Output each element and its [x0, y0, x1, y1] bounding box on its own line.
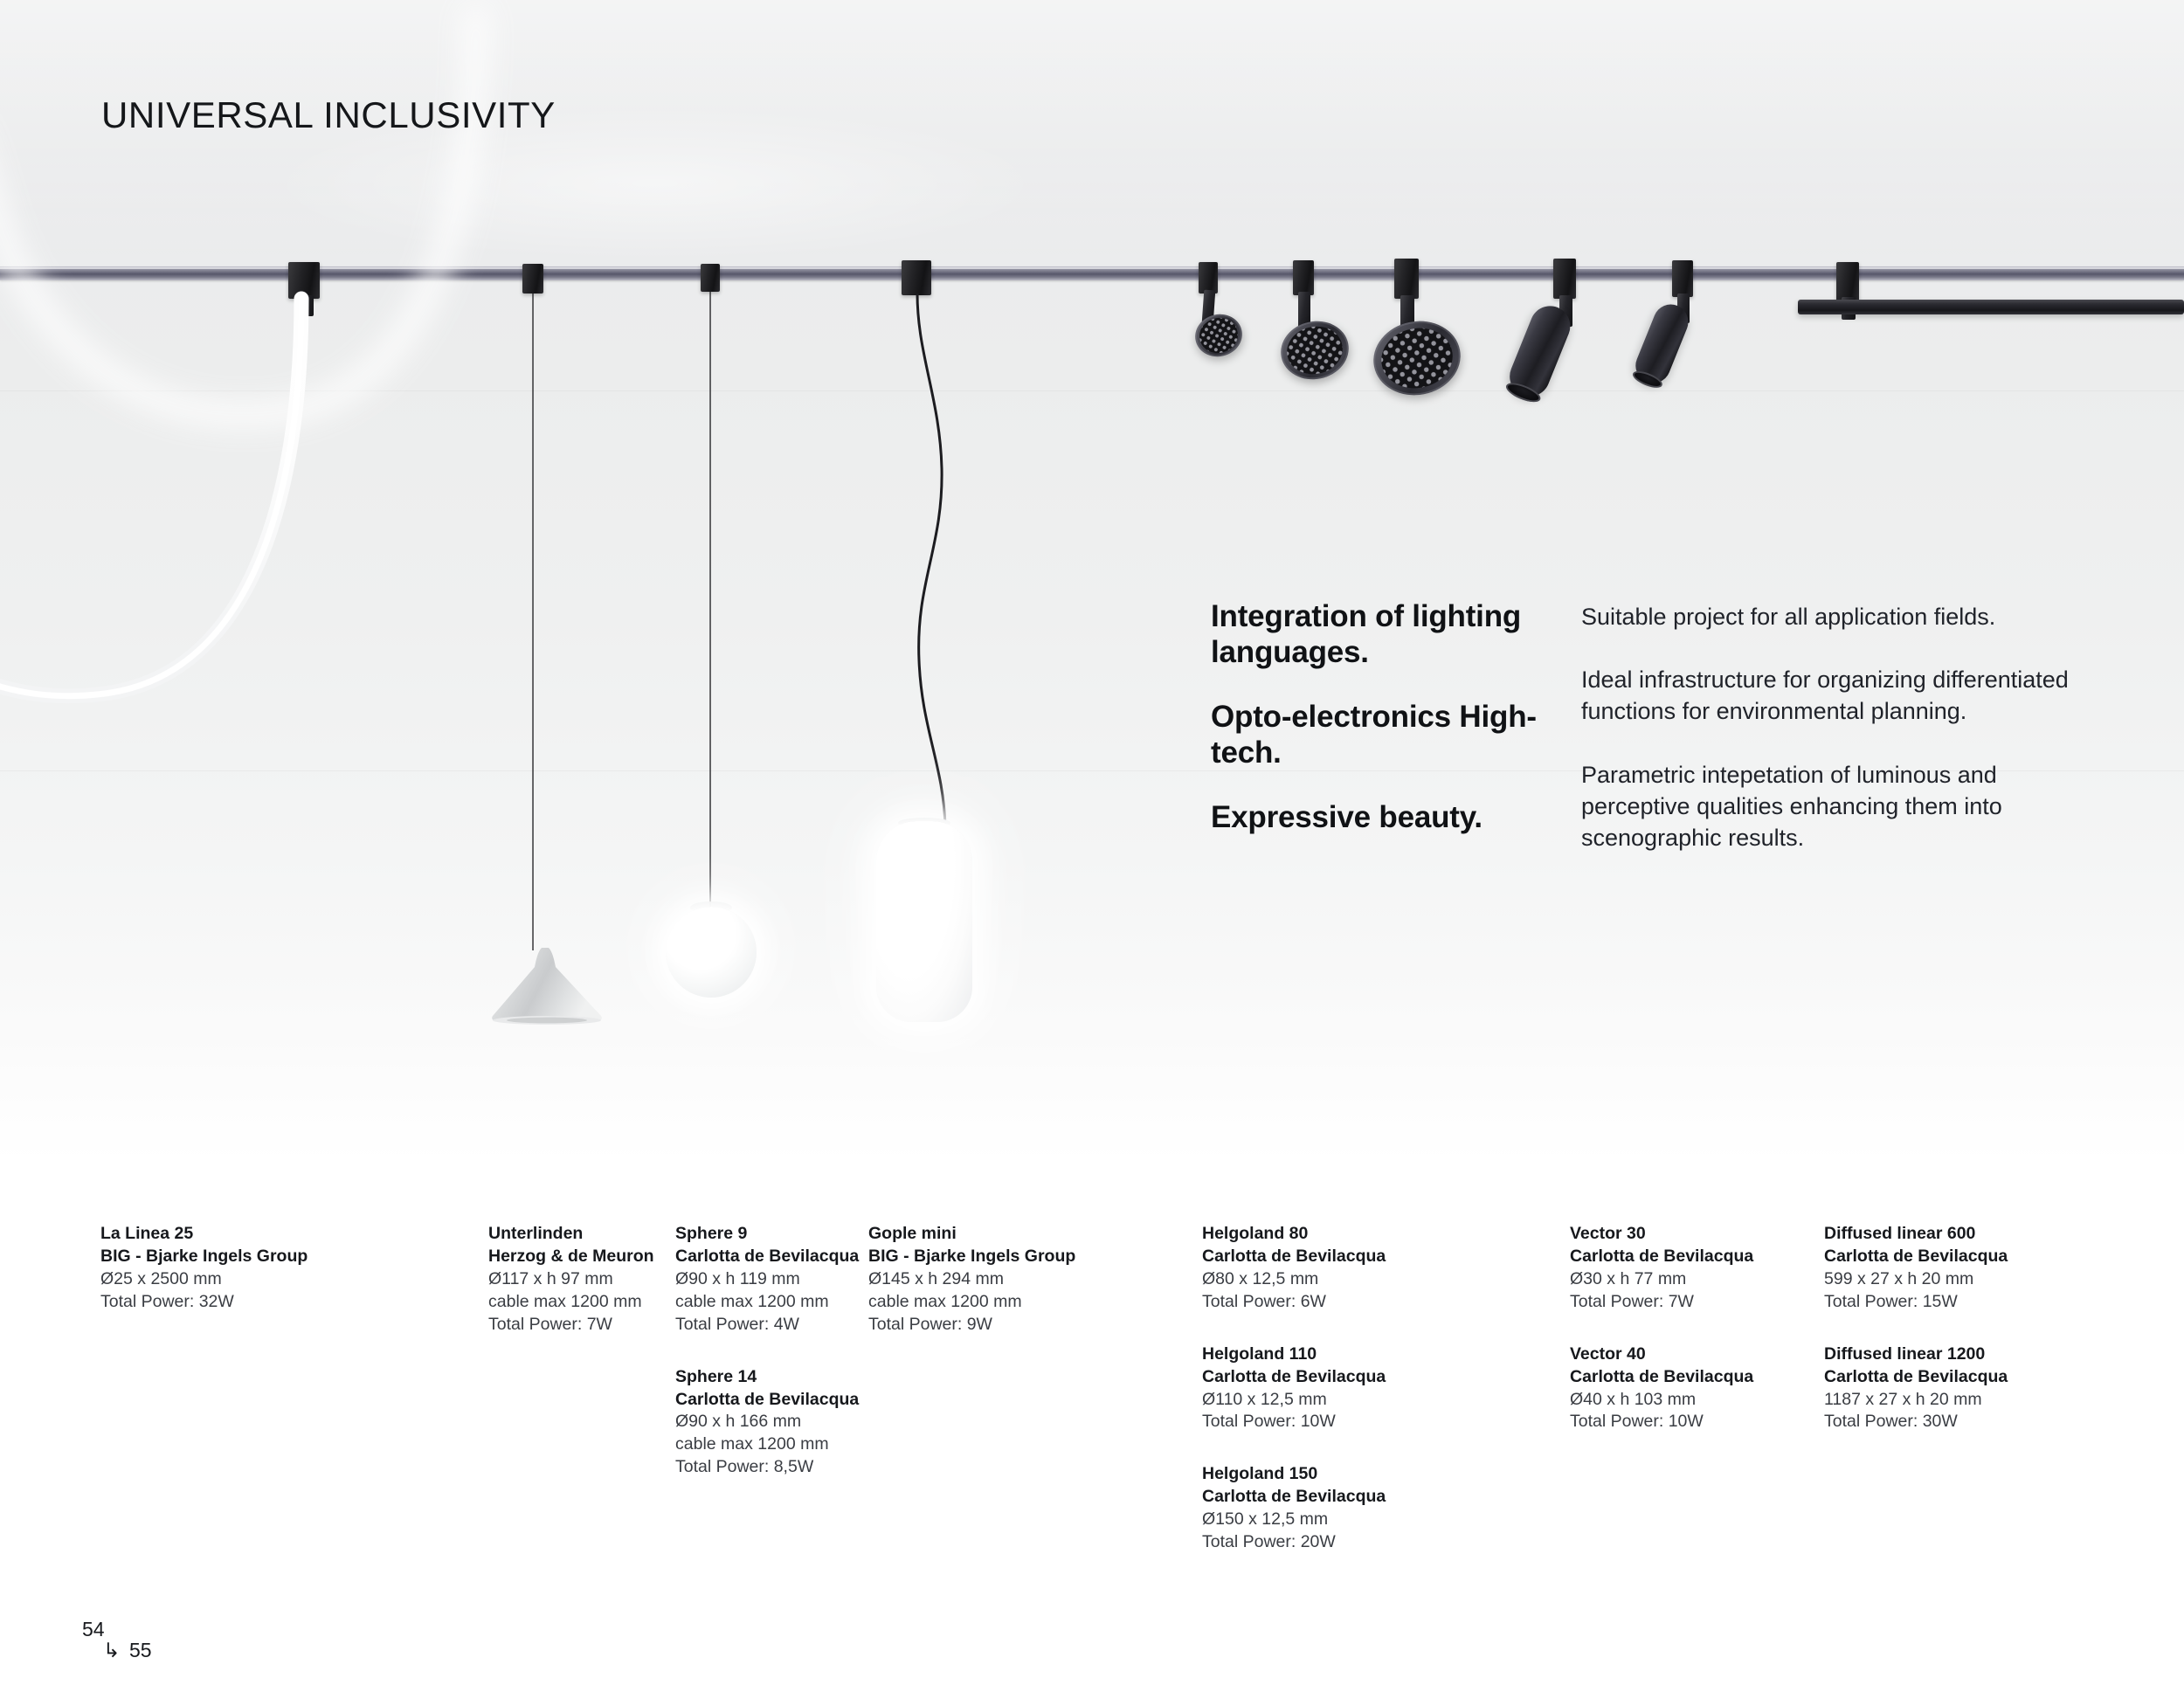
- helgoland-150-head: [1367, 314, 1467, 403]
- col-vector: Vector 30Carlotta de BevilacquaØ30 x h 7…: [1570, 1223, 1753, 1433]
- product-spec: Ø90 x h 119 mm: [675, 1268, 859, 1291]
- col-helgoland: Helgoland 80Carlotta de BevilacquaØ80 x …: [1202, 1223, 1386, 1554]
- pendant-cord-unterlinden: [532, 294, 534, 950]
- product-spec: Total Power: 32W: [100, 1291, 308, 1314]
- product-spec: cable max 1200 mm: [488, 1291, 654, 1314]
- product-caption: Helgoland 150Carlotta de BevilacquaØ150 …: [1202, 1463, 1386, 1554]
- product-name: Diffused linear 600: [1824, 1223, 2008, 1246]
- product-designer: Carlotta de Bevilacqua: [1202, 1246, 1386, 1268]
- product-designer: Carlotta de Bevilacqua: [1824, 1366, 2008, 1389]
- col-unterlinden: UnterlindenHerzog & de MeuronØ117 x h 97…: [488, 1223, 654, 1336]
- product-caption: Vector 40Carlotta de BevilacquaØ40 x h 1…: [1570, 1343, 1753, 1434]
- folio-arrow-icon: ↳: [103, 1639, 120, 1662]
- product-name: Diffused linear 1200: [1824, 1343, 2008, 1366]
- product-spec: Total Power: 15W: [1824, 1291, 2008, 1314]
- helgoland-80-head: [1191, 309, 1247, 362]
- helgoland-80-disc: [1191, 309, 1247, 362]
- product-spec: cable max 1200 mm: [675, 1291, 859, 1314]
- product-spec: Total Power: 4W: [675, 1314, 859, 1336]
- headline-line-1: Integration of lighting languages.: [1211, 599, 1560, 670]
- product-designer: BIG - Bjarke Ingels Group: [100, 1246, 308, 1268]
- product-spec: Ø25 x 2500 mm: [100, 1268, 308, 1291]
- track-adapter-helgoland-80: [1199, 262, 1218, 294]
- product-spec: Total Power: 7W: [1570, 1291, 1753, 1314]
- product-spec: cable max 1200 mm: [675, 1433, 859, 1456]
- body-text-column: Suitable project for all application fie…: [1581, 601, 2097, 853]
- product-designer: Carlotta de Bevilacqua: [675, 1246, 859, 1268]
- product-spec: Ø145 x h 294 mm: [868, 1268, 1075, 1291]
- track-adapter-sphere: [701, 264, 720, 292]
- product-name: Unterlinden: [488, 1223, 654, 1246]
- product-caption: Diffused linear 1200Carlotta de Bevilacq…: [1824, 1343, 2008, 1434]
- product-spec: Total Power: 8,5W: [675, 1456, 859, 1479]
- product-designer: BIG - Bjarke Ingels Group: [868, 1246, 1075, 1268]
- folio-page-left: 54: [82, 1618, 105, 1641]
- col-sphere: Sphere 9Carlotta de BevilacquaØ90 x h 11…: [675, 1223, 859, 1479]
- product-name: Sphere 14: [675, 1366, 859, 1389]
- body-paragraph-3: Parametric intepetation of luminous and …: [1581, 759, 2097, 854]
- product-caption: Diffused linear 600Carlotta de Bevilacqu…: [1824, 1223, 2008, 1314]
- product-spec: Total Power: 9W: [868, 1314, 1075, 1336]
- product-name: Sphere 9: [675, 1223, 859, 1246]
- helgoland-110-disc: [1275, 315, 1354, 386]
- la-linea-25-tube: [0, 288, 367, 742]
- product-name: Helgoland 110: [1202, 1343, 1386, 1366]
- product-designer: Carlotta de Bevilacqua: [1202, 1486, 1386, 1509]
- body-paragraph-2: Ideal infrastructure for organizing diff…: [1581, 664, 2097, 727]
- col-gople: Gople miniBIG - Bjarke Ingels GroupØ145 …: [868, 1223, 1075, 1336]
- headline-line-3: Expressive beauty.: [1211, 800, 1560, 836]
- product-spec: Total Power: 10W: [1570, 1411, 1753, 1433]
- product-caption: Helgoland 80Carlotta de BevilacquaØ80 x …: [1202, 1223, 1386, 1314]
- product-spec: Ø110 x 12,5 mm: [1202, 1389, 1386, 1412]
- product-designer: Herzog & de Meuron: [488, 1246, 654, 1268]
- helgoland-110-head: [1275, 315, 1354, 386]
- product-spec: 1187 x 27 x h 20 mm: [1824, 1389, 2008, 1412]
- track-adapter-helgoland-150: [1394, 259, 1419, 299]
- product-caption: Gople miniBIG - Bjarke Ingels GroupØ145 …: [868, 1223, 1075, 1336]
- unterlinden-cone-shade: [489, 948, 605, 1025]
- product-name: Helgoland 80: [1202, 1223, 1386, 1246]
- product-name: Helgoland 150: [1202, 1463, 1386, 1486]
- helgoland-80-honeycomb-mesh: [1196, 314, 1241, 357]
- track-adapter-vector-40: [1672, 260, 1693, 297]
- product-name: Vector 30: [1570, 1223, 1753, 1246]
- product-spec: Ø40 x h 103 mm: [1570, 1389, 1753, 1412]
- product-caption: Helgoland 110Carlotta de BevilacquaØ110 …: [1202, 1343, 1386, 1434]
- product-spec: Ø117 x h 97 mm: [488, 1268, 654, 1291]
- track-adapter-gople: [902, 260, 931, 295]
- pendant-cord-gople: [891, 294, 987, 826]
- track-adapter-helgoland-110: [1293, 260, 1314, 295]
- sphere-9-globe: [666, 907, 757, 998]
- body-paragraph-1: Suitable project for all application fie…: [1581, 601, 2097, 632]
- product-spec: Ø30 x h 77 mm: [1570, 1268, 1753, 1291]
- product-caption: Vector 30Carlotta de BevilacquaØ30 x h 7…: [1570, 1223, 1753, 1314]
- vector-30-head: [1503, 300, 1576, 402]
- page-title: UNIVERSAL INCLUSIVITY: [101, 94, 556, 136]
- product-caption: Sphere 9Carlotta de BevilacquaØ90 x h 11…: [675, 1223, 859, 1336]
- track-adapter-unterlinden: [522, 264, 543, 294]
- vector-40-head: [1630, 300, 1693, 389]
- catalog-spread: UNIVERSAL INCLUSIVITY Integration of lig…: [0, 0, 2184, 1699]
- product-spec: Ø80 x 12,5 mm: [1202, 1268, 1386, 1291]
- diffused-linear-bar: [1798, 300, 2184, 314]
- product-spec: Total Power: 10W: [1202, 1411, 1386, 1433]
- product-designer: Carlotta de Bevilacqua: [1824, 1246, 2008, 1268]
- helgoland-110-honeycomb-mesh: [1282, 321, 1347, 379]
- product-spec: Total Power: 30W: [1824, 1411, 2008, 1433]
- headline-line-2: Opto-electronics High-tech.: [1211, 700, 1560, 770]
- product-designer: Carlotta de Bevilacqua: [1570, 1366, 1753, 1389]
- product-caption-grid: La Linea 25BIG - Bjarke Ingels GroupØ25 …: [0, 1223, 2184, 1529]
- product-spec: Ø150 x 12,5 mm: [1202, 1509, 1386, 1531]
- product-caption: La Linea 25BIG - Bjarke Ingels GroupØ25 …: [100, 1223, 308, 1314]
- helgoland-150-honeycomb-mesh: [1376, 321, 1458, 394]
- product-name: Gople mini: [868, 1223, 1075, 1246]
- product-designer: Carlotta de Bevilacqua: [1570, 1246, 1753, 1268]
- folio-page-right: 55: [129, 1639, 152, 1662]
- product-spec: Total Power: 6W: [1202, 1291, 1386, 1314]
- track-adapter-vector-30: [1553, 259, 1576, 299]
- gople-mini-diffuser: [876, 821, 972, 1022]
- product-spec: Total Power: 7W: [488, 1314, 654, 1336]
- product-caption: Sphere 14Carlotta de BevilacquaØ90 x h 1…: [675, 1366, 859, 1480]
- headline-column: Integration of lighting languages. Opto-…: [1211, 599, 1560, 836]
- product-designer: Carlotta de Bevilacqua: [675, 1389, 859, 1412]
- col-diffused-linear: Diffused linear 600Carlotta de Bevilacqu…: [1824, 1223, 2008, 1433]
- pendant-cord-sphere: [709, 292, 711, 908]
- helgoland-150-disc: [1367, 314, 1467, 403]
- product-spec: Ø90 x h 166 mm: [675, 1411, 859, 1433]
- col-la-linea: La Linea 25BIG - Bjarke Ingels GroupØ25 …: [100, 1223, 308, 1314]
- product-caption: UnterlindenHerzog & de MeuronØ117 x h 97…: [488, 1223, 654, 1336]
- product-name: Vector 40: [1570, 1343, 1753, 1366]
- product-spec: cable max 1200 mm: [868, 1291, 1075, 1314]
- product-spec: Total Power: 20W: [1202, 1531, 1386, 1554]
- product-name: La Linea 25: [100, 1223, 308, 1246]
- product-designer: Carlotta de Bevilacqua: [1202, 1366, 1386, 1389]
- product-spec: 599 x 27 x h 20 mm: [1824, 1268, 2008, 1291]
